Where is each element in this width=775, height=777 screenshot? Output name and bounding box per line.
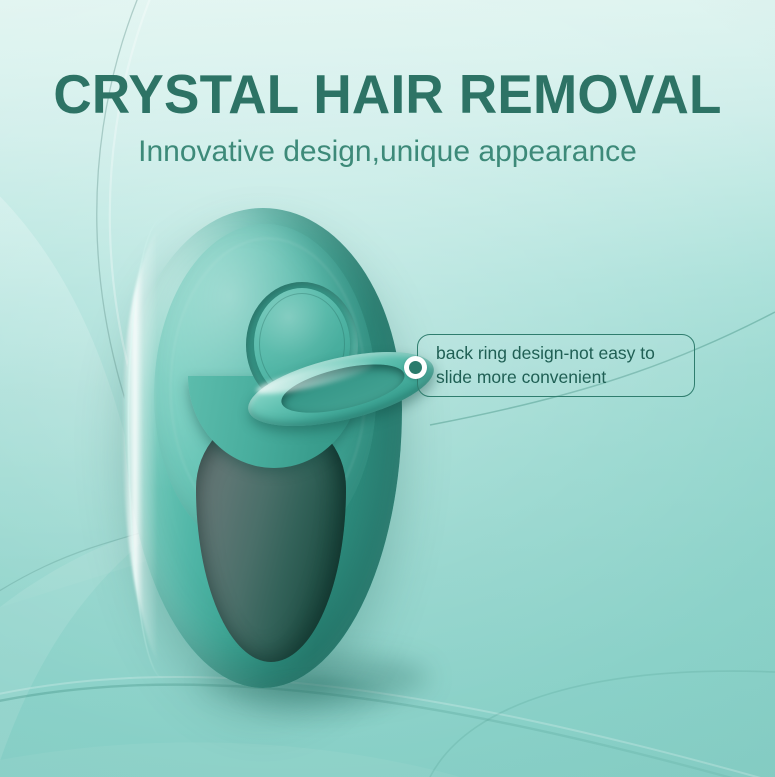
- callout-line-1: back ring design-not easy to: [436, 343, 655, 363]
- feature-callout-box: back ring design-not easy to slide more …: [417, 334, 695, 397]
- device-reflection: [216, 678, 422, 748]
- callout-marker-dot: [404, 356, 427, 379]
- callout-line-2: slide more convenient: [436, 366, 655, 389]
- product-image: [96, 208, 426, 708]
- page-title: CRYSTAL HAIR REMOVAL: [14, 62, 762, 126]
- callout-dot-inner: [409, 361, 422, 374]
- feature-callout-text: back ring design-not easy to slide more …: [418, 342, 665, 388]
- product-banner: CRYSTAL HAIR REMOVAL Innovative design,u…: [0, 0, 775, 777]
- page-subtitle: Innovative design,unique appearance: [0, 135, 775, 169]
